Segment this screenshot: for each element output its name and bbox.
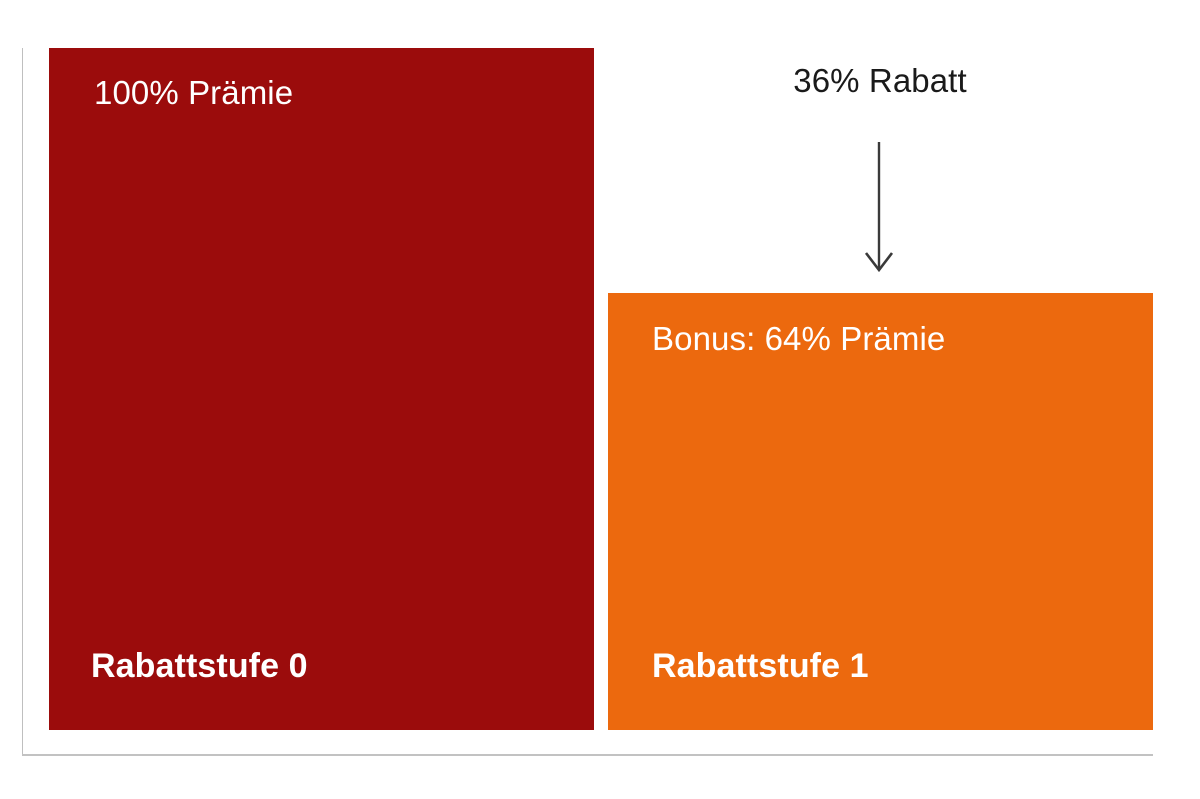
bar-value-label-0: 100% Prämie (94, 74, 293, 112)
discount-annotation: 36% Rabatt (700, 62, 1060, 100)
axis-line-bottom (22, 754, 1153, 756)
arrow-down-icon (858, 140, 900, 274)
bar-category-label-0: Rabattstufe 0 (91, 647, 308, 686)
axis-line-left (22, 48, 23, 755)
chart-canvas: 100% Prämie Rabattstufe 0 Bonus: 64% Prä… (0, 0, 1200, 799)
bar-rabattstufe-1[interactable]: Bonus: 64% Prämie Rabattstufe 1 (608, 293, 1153, 730)
bar-category-label-1: Rabattstufe 1 (652, 647, 869, 686)
bar-value-label-1: Bonus: 64% Prämie (652, 320, 945, 358)
bar-rabattstufe-0[interactable]: 100% Prämie Rabattstufe 0 (49, 48, 594, 730)
discount-annotation-label: 36% Rabatt (793, 62, 966, 99)
